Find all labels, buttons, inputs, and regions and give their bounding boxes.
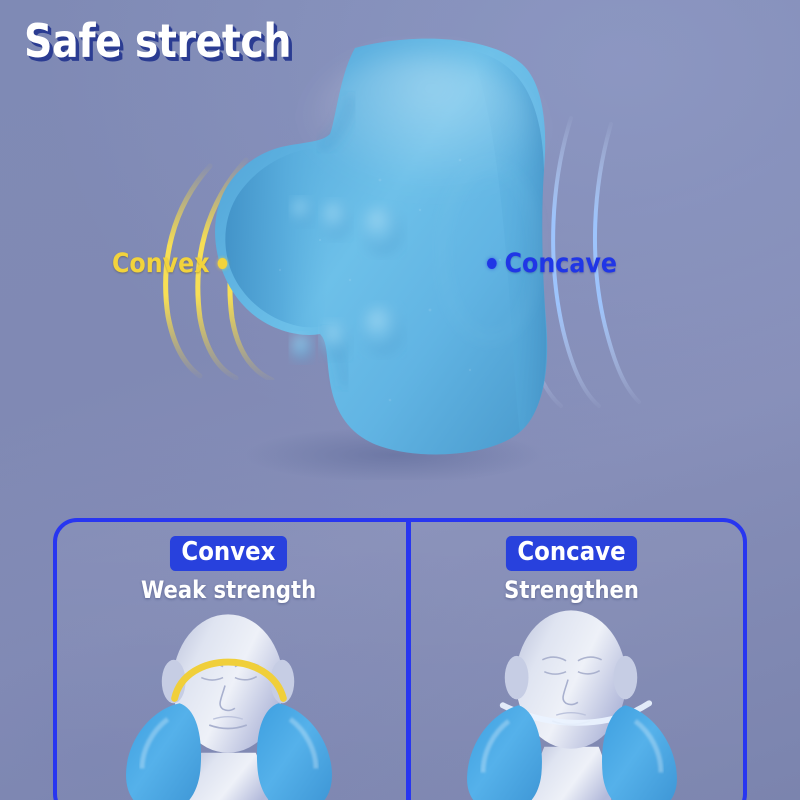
sub-label-strengthen: Strengthen bbox=[504, 576, 639, 604]
panel-half-concave: Concave Strengthen bbox=[400, 522, 743, 800]
figure-concave-head bbox=[400, 602, 743, 800]
comparison-panel: Convex Weak strength bbox=[53, 518, 747, 800]
panel-divider bbox=[406, 522, 411, 800]
cushion-wing-right bbox=[257, 703, 332, 800]
badge-convex: Convex bbox=[170, 536, 287, 571]
marketing-image: Safe stretch bbox=[0, 0, 800, 800]
cushion-wing-left bbox=[467, 705, 542, 800]
badge-concave: Concave bbox=[506, 536, 637, 571]
callout-concave: Concave bbox=[487, 248, 617, 279]
callout-concave-label: Concave bbox=[505, 248, 617, 279]
hero-product-section: Convex Concave bbox=[0, 0, 800, 500]
panel-half-convex: Convex Weak strength bbox=[57, 522, 400, 800]
cushion-wing-left bbox=[126, 703, 201, 800]
bullet-dot-icon bbox=[218, 258, 228, 269]
figure-convex-head bbox=[57, 602, 400, 800]
bullet-dot-icon bbox=[487, 258, 497, 269]
callout-convex: Convex bbox=[112, 248, 227, 279]
sub-label-weak-strength: Weak strength bbox=[141, 576, 316, 604]
cushion-wing-right bbox=[602, 705, 677, 800]
callout-convex-label: Convex bbox=[112, 248, 210, 279]
